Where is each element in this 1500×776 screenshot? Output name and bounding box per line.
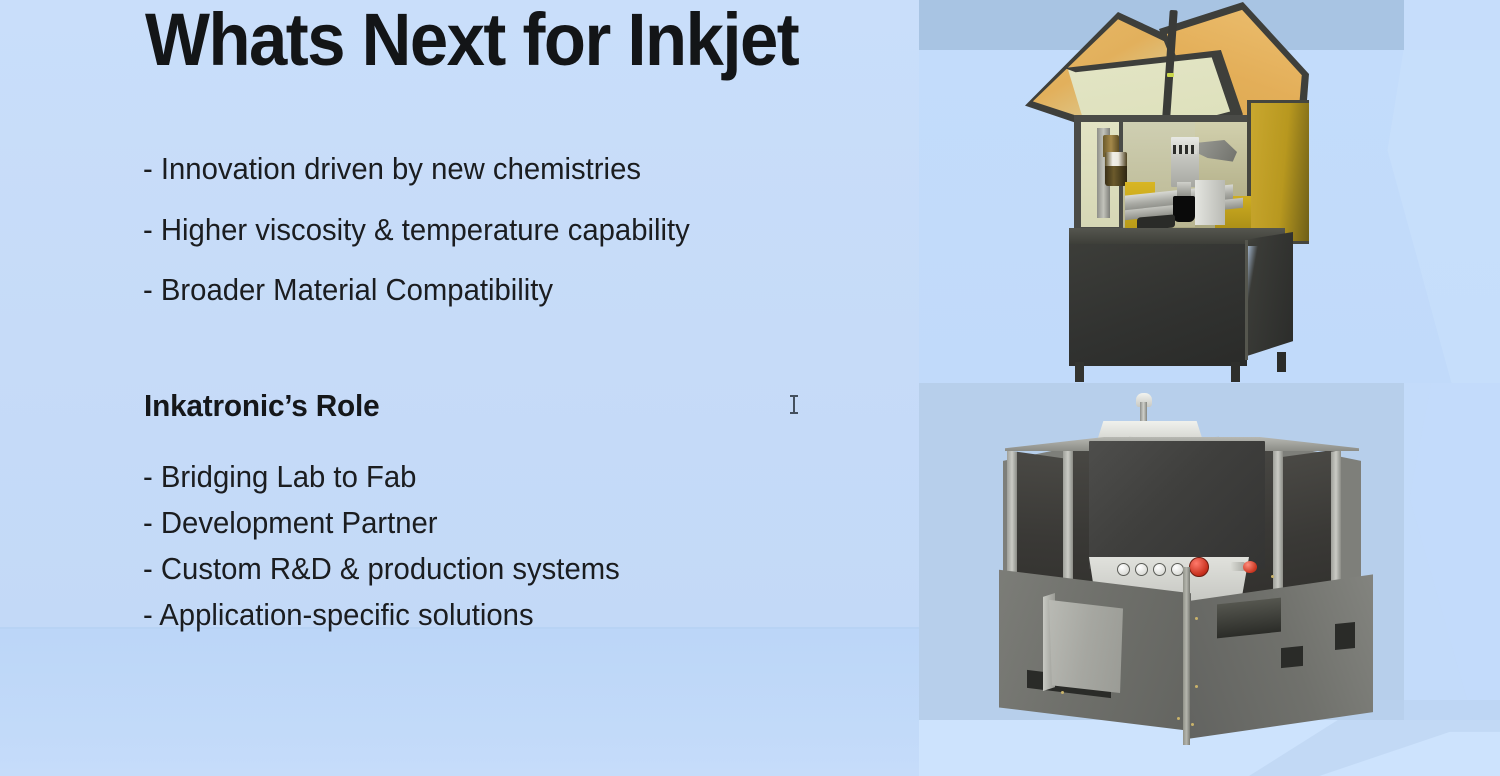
enclosure-open-door [1247,100,1309,244]
hood-latch-indicator [1167,73,1174,77]
carriage-plate [1195,180,1225,225]
slide-title: Whats Next for Inkjet [145,3,798,77]
camera-module [1173,196,1195,222]
cabinet-leg-right [1231,362,1240,382]
bullet-item: - Application-specific solutions [143,600,620,631]
cabinet-side-panel [1247,232,1293,356]
bullet-item: - Higher viscosity & temperature capabil… [143,215,690,246]
printhead-connector [1173,145,1197,154]
section-heading: Inkatronic’s Role [144,390,379,421]
cabinet-front-panel [1069,244,1247,366]
operator-monitor [1089,441,1265,569]
bullet-list-role: - Bridging Lab to Fab - Development Part… [143,462,640,646]
bullet-item: - Broader Material Compatibility [143,275,690,306]
panel-band-top-light [1404,0,1500,50]
ink-bottle-base [1105,166,1127,186]
fastener [1195,685,1198,688]
control-button-3[interactable] [1153,563,1166,576]
bullet-item: - Innovation driven by new chemistries [143,154,690,185]
bullet-item: - Development Partner [143,508,620,539]
production-system-render [981,385,1401,770]
fastener [1271,575,1274,578]
emergency-stop-button[interactable] [1189,557,1209,577]
bullet-item: - Bridging Lab to Fab [143,462,620,493]
bullet-item: - Custom R&D & production systems [143,554,620,585]
lab-system-render [1019,0,1349,380]
printhead-nozzle [1177,182,1191,196]
control-button-2[interactable] [1135,563,1148,576]
fastener [1061,691,1064,694]
cabinet-leg-left [1075,362,1084,382]
access-opening-small-2 [1335,622,1355,650]
background-band-left-lower [0,629,919,776]
fastener [1191,723,1194,726]
fastener [1195,617,1198,620]
cabinet-corner-post [1245,240,1248,360]
emergency-stop-secondary[interactable] [1243,561,1257,573]
service-door [1049,597,1123,693]
presentation-slide: Whats Next for Inkjet - Innovation drive… [0,0,1500,776]
cabinet-leg-rear [1277,352,1286,372]
image-panel [919,0,1500,776]
bullet-list-primary: - Innovation driven by new chemistries -… [143,154,713,336]
base-cabinet-corner [1183,567,1190,745]
fastener [1177,717,1180,720]
control-button-1[interactable] [1117,563,1130,576]
access-opening-large [1217,598,1281,639]
access-opening-small-1 [1281,646,1303,668]
